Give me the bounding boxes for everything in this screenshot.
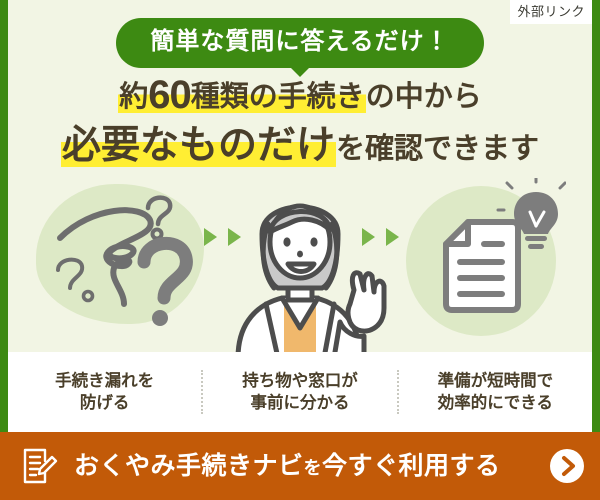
benefit-item-1: 手続き漏れを 防げる <box>8 370 201 415</box>
cta-bar-button[interactable]: おくやみ手続きナビを今すぐ利用する <box>0 432 600 500</box>
left-green-rail <box>0 0 8 432</box>
play-triangle-icon <box>362 228 375 246</box>
cta-action: 今すぐ利用する <box>322 452 501 480</box>
headline-block: 約60種類の手続きの中から 必要なものだけを確認できます <box>8 72 592 169</box>
headline-line-2: 必要なものだけを確認できます <box>8 123 592 169</box>
cta-label: おくやみ手続きナビを今すぐ利用する <box>74 454 540 479</box>
headline-line-1: 約60種類の手続きの中から <box>8 72 592 119</box>
benefit-line-1: 持ち物や窓口が <box>207 370 392 392</box>
headline-prefix: 約 <box>119 81 148 113</box>
pill-wrap: 簡単な質問に答えるだけ！ <box>0 18 600 68</box>
headline-mid: 種類の手続き <box>191 81 365 113</box>
play-triangle-icon <box>228 228 241 246</box>
arrow-group-right <box>362 228 406 251</box>
benefit-line-1: 準備が短時間で <box>403 370 588 392</box>
question-marks-scribble-icon <box>32 178 222 338</box>
document-lightbulb-icon <box>406 178 566 338</box>
headline-number: 60 <box>148 73 191 117</box>
cta-service-name: おくやみ手続きナビ <box>74 452 304 480</box>
external-link-badge: 外部リンク <box>510 0 592 24</box>
woman-presenter-icon <box>204 172 396 352</box>
question-pill-badge: 簡単な質問に答えるだけ！ <box>116 18 483 68</box>
benefit-line-1: 手続き漏れを <box>12 370 197 392</box>
benefit-line-2: 防げる <box>12 392 197 414</box>
document-pencil-icon <box>18 445 60 487</box>
benefit-line-2: 事前に分かる <box>207 392 392 414</box>
right-green-rail <box>592 0 600 432</box>
arrow-group-left <box>204 228 248 251</box>
benefit-line-2: 効率的にできる <box>403 392 588 414</box>
illustration-band <box>8 176 592 352</box>
headline-suffix: の中から <box>366 81 482 113</box>
pill-tail <box>290 67 310 77</box>
chevron-right-circle-icon[interactable] <box>548 447 586 485</box>
headline-highlight: 必要なものだけ <box>61 124 336 167</box>
headline-rest: を確認できます <box>336 133 539 165</box>
play-triangle-icon <box>386 228 399 246</box>
pill-label: 簡単な質問に答えるだけ！ <box>150 28 449 55</box>
benefit-item-2: 持ち物や窓口が 事前に分かる <box>201 370 396 415</box>
play-triangle-icon <box>204 228 217 246</box>
benefit-item-3: 準備が短時間で 効率的にできる <box>397 370 592 415</box>
cta-particle: を <box>304 458 323 478</box>
benefits-row: 手続き漏れを 防げる 持ち物や窓口が 事前に分かる 準備が短時間で 効率的にでき… <box>8 352 592 432</box>
okuyami-navi-banner[interactable]: 約60種類の手続きの中から 必要なものだけを確認できます <box>0 0 600 500</box>
